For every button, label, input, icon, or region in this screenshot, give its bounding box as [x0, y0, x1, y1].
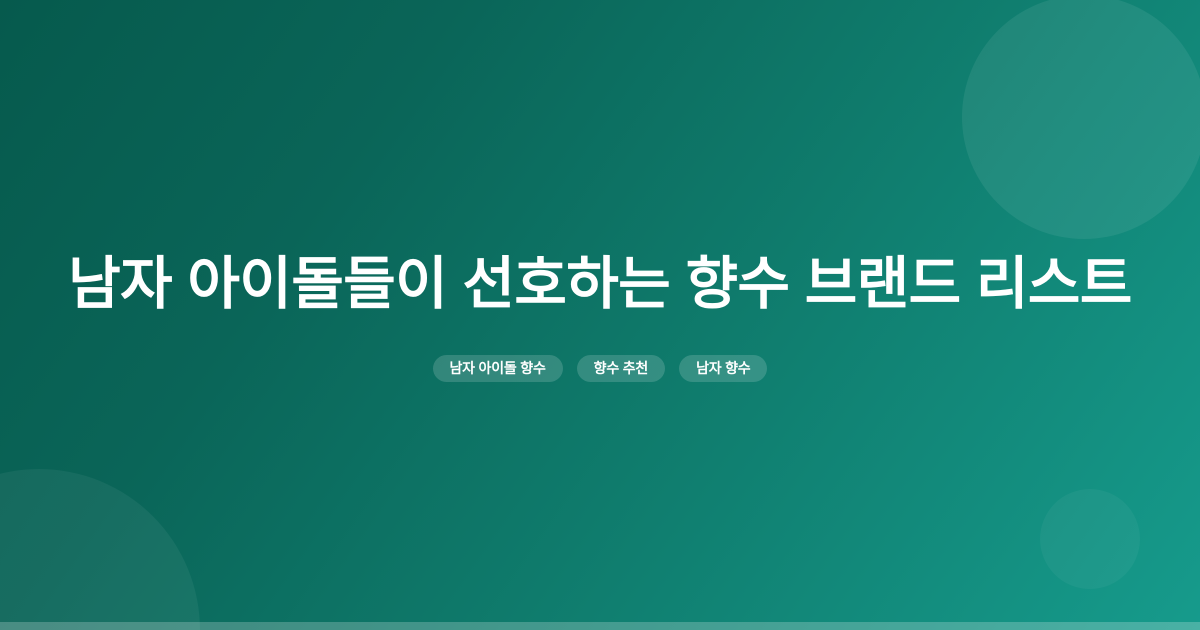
- tag-item-2[interactable]: 남자 향수: [679, 355, 767, 382]
- page-title: 남자 아이돌들이 선호하는 향수 브랜드 리스트: [68, 248, 1132, 321]
- tag-item-0[interactable]: 남자 아이돌 향수: [433, 355, 563, 382]
- bottom-accent-band: [0, 622, 1200, 630]
- tag-item-1[interactable]: 향수 추천: [577, 355, 665, 382]
- og-card: 남자 아이돌들이 선호하는 향수 브랜드 리스트 남자 아이돌 향수 향수 추천…: [0, 0, 1200, 630]
- card-content: 남자 아이돌들이 선호하는 향수 브랜드 리스트 남자 아이돌 향수 향수 추천…: [0, 0, 1200, 630]
- tag-list: 남자 아이돌 향수 향수 추천 남자 향수: [433, 355, 768, 382]
